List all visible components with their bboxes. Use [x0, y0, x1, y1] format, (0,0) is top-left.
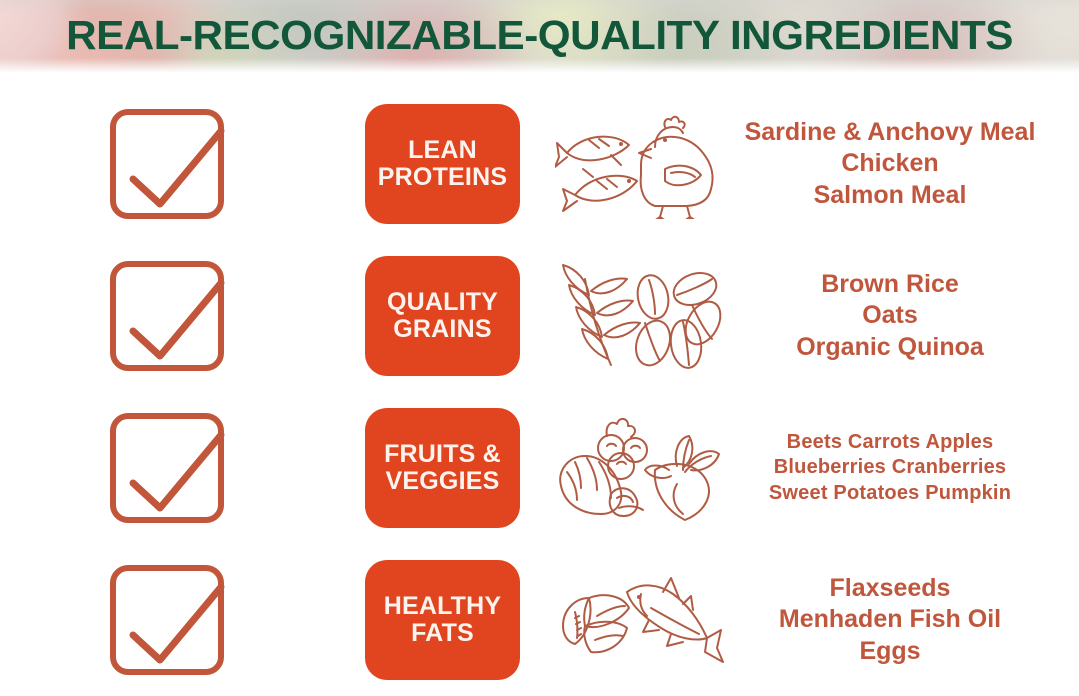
- checkbox-checked-icon[interactable]: [109, 411, 231, 525]
- badge-line-2: GRAINS: [393, 316, 491, 343]
- ingredient-line: Blueberries Cranberries: [774, 455, 1006, 481]
- icon-cell: [545, 261, 735, 371]
- seeds-and-fish-icon: [555, 564, 725, 676]
- badge-healthy-fats[interactable]: HEALTHY FATS: [365, 560, 520, 680]
- ingredient-line: Beets Carrots Apples: [787, 430, 994, 456]
- ingredient-list-lean-proteins: Sardine & Anchovy Meal Chicken Salmon Me…: [735, 117, 1079, 212]
- checkbox-checked-icon[interactable]: [109, 563, 231, 677]
- ingredient-line: Organic Quinoa: [796, 332, 984, 364]
- ingredient-line: Chicken: [841, 148, 938, 180]
- ingredient-rows: LEAN PROTEINS: [0, 74, 1079, 682]
- badge-line-1: HEALTHY: [384, 593, 502, 620]
- badge-line-2: VEGGIES: [386, 468, 500, 495]
- ingredient-list-healthy-fats: Flaxseeds Menhaden Fish Oil Eggs: [735, 573, 1079, 668]
- checkbox-checked-icon[interactable]: [109, 259, 231, 373]
- ingredient-line: Sardine & Anchovy Meal: [745, 117, 1036, 149]
- fish-and-chicken-icon: [555, 109, 725, 219]
- ingredient-row-lean-proteins: LEAN PROTEINS: [0, 88, 1079, 240]
- badge-line-1: FRUITS &: [384, 441, 501, 468]
- checkbox-cell: [0, 107, 340, 221]
- wheat-and-grains-icon: [555, 261, 725, 371]
- checkbox-cell: [0, 563, 340, 677]
- ingredient-line: Brown Rice: [821, 269, 959, 301]
- badge-fruits-veggies[interactable]: FRUITS & VEGGIES: [365, 408, 520, 528]
- checkbox-checked-icon[interactable]: [109, 107, 231, 221]
- badge-line-1: QUALITY: [387, 289, 498, 316]
- checkbox-cell: [0, 411, 340, 525]
- badge-quality-grains[interactable]: QUALITY GRAINS: [365, 256, 520, 376]
- sweet-potato-blueberries-beet-icon: [555, 412, 725, 524]
- badge-cell: LEAN PROTEINS: [340, 104, 545, 224]
- badge-line-2: PROTEINS: [378, 164, 507, 191]
- badge-line-2: FATS: [411, 620, 474, 647]
- icon-cell: [545, 109, 735, 219]
- ingredient-row-healthy-fats: HEALTHY FATS: [0, 544, 1079, 696]
- ingredient-row-quality-grains: QUALITY GRAINS: [0, 240, 1079, 392]
- ingredient-line: Oats: [862, 300, 918, 332]
- ingredient-line: Flaxseeds: [830, 573, 951, 605]
- ingredient-line: Salmon Meal: [814, 180, 967, 212]
- ingredient-list-fruits-veggies: Beets Carrots Apples Blueberries Cranber…: [735, 430, 1079, 507]
- ingredient-row-fruits-veggies: FRUITS & VEGGIES: [0, 392, 1079, 544]
- ingredient-list-quality-grains: Brown Rice Oats Organic Quinoa: [735, 269, 1079, 364]
- badge-cell: FRUITS & VEGGIES: [340, 408, 545, 528]
- badge-line-1: LEAN: [408, 137, 477, 164]
- ingredient-line: Sweet Potatoes Pumpkin: [769, 481, 1011, 507]
- header-banner: REAL-RECOGNIZABLE-QUALITY INGREDIENTS: [0, 0, 1079, 74]
- ingredient-line: Menhaden Fish Oil: [779, 604, 1001, 636]
- page-title: REAL-RECOGNIZABLE-QUALITY INGREDIENTS: [0, 0, 1079, 74]
- ingredient-line: Eggs: [859, 636, 920, 668]
- badge-lean-proteins[interactable]: LEAN PROTEINS: [365, 104, 520, 224]
- checkbox-cell: [0, 259, 340, 373]
- badge-cell: HEALTHY FATS: [340, 560, 545, 680]
- icon-cell: [545, 564, 735, 676]
- icon-cell: [545, 412, 735, 524]
- badge-cell: QUALITY GRAINS: [340, 256, 545, 376]
